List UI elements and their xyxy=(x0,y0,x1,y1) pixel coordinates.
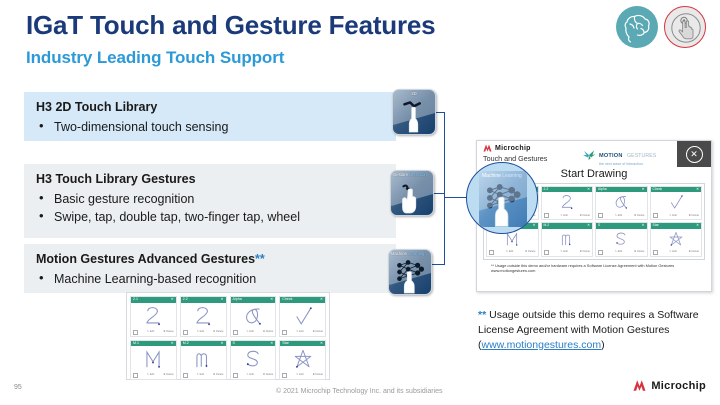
band-title-text: Motion Gestures Advanced Gestures xyxy=(36,252,255,266)
gesture-card-drawing xyxy=(596,192,647,212)
callout-label: Machine Learning xyxy=(482,173,522,179)
gesture-card-footer: ✎ Edit✖ Delete xyxy=(487,249,538,256)
gesture-card-delete-button[interactable]: ✖ Delete xyxy=(163,331,173,334)
gesture-card-label: Alpha xyxy=(233,298,242,302)
gesture-card-checkbox[interactable] xyxy=(653,213,658,218)
band-title-text: H3 Touch Library Gestures xyxy=(36,172,196,186)
gesture-card-footer: ✎ Edit✖ Delete xyxy=(181,372,226,379)
callout-label-hi: Learning xyxy=(502,173,521,179)
page-title: IGaT Touch and Gesture Features xyxy=(26,10,435,41)
gesture-card-drawing xyxy=(231,303,276,329)
gesture-card-checkbox[interactable] xyxy=(233,330,238,335)
gesture-grid-image: 2.1✕✎ Edit✖ Delete2.2✕✎ Edit✖ DeleteAlph… xyxy=(126,292,330,380)
gesture-card-drawing xyxy=(542,192,593,212)
gesture-card[interactable]: S✕✎ Edit✖ Delete xyxy=(595,222,648,256)
gesture-card-checkbox[interactable] xyxy=(653,250,658,255)
microchip-wordmark-footer: Microchip xyxy=(651,380,706,392)
gesture-card-delete-button[interactable]: ✖ Delete xyxy=(689,215,699,218)
gesture-card-delete-button[interactable]: ✖ Delete xyxy=(689,251,699,254)
app-icon-gesture-detection[interactable]: Gesture Detection xyxy=(390,170,434,216)
gesture-card-remove-icon[interactable]: ✕ xyxy=(587,224,590,227)
app-icon-machine-learning[interactable]: Machine Learning xyxy=(388,249,432,295)
microchip-mark-icon xyxy=(631,378,648,393)
gesture-card-checkbox[interactable] xyxy=(133,373,138,378)
gesture-card-footer: ✎ Edit✖ Delete xyxy=(542,249,593,256)
connector-vertical xyxy=(444,112,445,264)
gesture-card-footer: ✎ Edit✖ Delete xyxy=(280,329,325,336)
gesture-card-edit-button[interactable]: ✎ Edit xyxy=(246,374,253,377)
list-item: Swipe, tap, double tap, two-finger tap, … xyxy=(36,208,384,226)
gesture-card-footer: ✎ Edit✖ Delete xyxy=(131,329,176,336)
close-icon: ✕ xyxy=(686,146,703,163)
microchip-logo-footer: Microchip xyxy=(631,378,706,393)
gesture-card-remove-icon[interactable]: ✕ xyxy=(171,298,174,302)
gesture-card-label: 2.1 xyxy=(133,298,138,302)
gesture-card-delete-button[interactable]: ✖ Delete xyxy=(263,374,273,377)
gesture-card-footer: ✎ Edit✖ Delete xyxy=(181,329,226,336)
gesture-card-label: 2.2 xyxy=(544,188,549,191)
gesture-card-label: Check xyxy=(282,298,292,302)
gesture-card-drawing xyxy=(596,229,647,249)
gesture-card-label: M.2 xyxy=(544,224,550,227)
page-number: 95 xyxy=(14,384,22,391)
callout-app-icon: Machine Learning xyxy=(479,171,527,227)
gesture-card-remove-icon[interactable]: ✕ xyxy=(270,342,273,346)
gesture-card-remove-icon[interactable]: ✕ xyxy=(696,224,699,227)
motion-gestures-tagline: the next wave of interaction xyxy=(599,162,656,166)
gesture-card-remove-icon[interactable]: ✕ xyxy=(696,188,699,191)
gesture-card-footer: ✎ Edit✖ Delete xyxy=(651,212,702,219)
hand-tap-glyph xyxy=(391,171,433,215)
gesture-card[interactable]: 2.2✕✎ Edit✖ Delete xyxy=(180,296,227,337)
band-bullets: Basic gesture recognition Swipe, tap, do… xyxy=(36,190,384,226)
microchip-logo-demo: Microchip xyxy=(482,143,531,153)
connector-stub-mid xyxy=(434,193,445,194)
gesture-card-delete-button[interactable]: ✖ Delete xyxy=(213,374,223,377)
gesture-card-delete-button[interactable]: ✖ Delete xyxy=(213,331,223,334)
gesture-card-edit-button[interactable]: ✎ Edit xyxy=(615,215,622,218)
gesture-card-footer: ✎ Edit✖ Delete xyxy=(231,372,276,379)
footnote-text-after: ) xyxy=(601,339,605,351)
gesture-card-drawing xyxy=(280,303,325,329)
app-icon-label: 2D xyxy=(395,91,433,96)
gesture-card-remove-icon[interactable]: ✕ xyxy=(220,298,223,302)
gesture-card-edit-button[interactable]: ✎ Edit xyxy=(246,331,253,334)
gesture-card-footer: ✎ Edit✖ Delete xyxy=(651,249,702,256)
app-icon-label: Machine Learning xyxy=(391,251,429,256)
gesture-card-label: S xyxy=(598,224,600,227)
band-bullets: Two-dimensional touch sensing xyxy=(36,118,384,136)
motion-gestures-name1: MOTION xyxy=(599,153,623,159)
gesture-card-drawing xyxy=(651,192,702,212)
motiongestures-link[interactable]: www.motiongestures.com xyxy=(482,339,602,351)
connector-stub-top xyxy=(436,112,445,113)
gesture-card-checkbox[interactable] xyxy=(183,373,188,378)
gesture-card-delete-button[interactable]: ✖ Delete xyxy=(634,215,644,218)
close-button[interactable]: ✕ xyxy=(677,141,711,167)
hummingbird-icon xyxy=(582,148,597,162)
gesture-card-checkbox[interactable] xyxy=(282,373,287,378)
app-icon-2d[interactable]: 2D xyxy=(392,89,436,135)
finger-swipe-glyph xyxy=(393,90,435,134)
gesture-card-checkbox[interactable] xyxy=(183,330,188,335)
gesture-card-checkbox[interactable] xyxy=(544,250,549,255)
page-subtitle: Industry Leading Touch Support xyxy=(26,48,284,68)
brain-icon xyxy=(616,6,658,48)
gesture-card-drawing xyxy=(131,303,176,329)
app-icon-label-plain: Gesture xyxy=(393,172,409,177)
list-item: Basic gesture recognition xyxy=(36,190,384,208)
list-item: Machine Learning-based recognition xyxy=(36,270,384,288)
gesture-card[interactable]: M.2✕✎ Edit✖ Delete xyxy=(180,340,227,381)
gesture-card-label: Check xyxy=(653,188,663,191)
gesture-card[interactable]: Check✕✎ Edit✖ Delete xyxy=(279,296,326,337)
gesture-card[interactable]: Star✕✎ Edit✖ Delete xyxy=(279,340,326,381)
gesture-card-label: 2.2 xyxy=(183,298,188,302)
microchip-wordmark-demo: Microchip xyxy=(495,145,531,152)
band-title: Motion Gestures Advanced Gestures** xyxy=(36,252,384,268)
connector-stub-bottom xyxy=(432,264,445,265)
gesture-card[interactable]: Alpha✕✎ Edit✖ Delete xyxy=(230,296,277,337)
gesture-card-footer: ✎ Edit✖ Delete xyxy=(596,249,647,256)
gesture-card-edit-button[interactable]: ✎ Edit xyxy=(669,251,676,254)
gesture-card-delete-button[interactable]: ✖ Delete xyxy=(163,374,173,377)
gesture-card-checkbox[interactable] xyxy=(282,330,287,335)
gesture-card-remove-icon[interactable]: ✕ xyxy=(171,342,174,346)
band-title: H3 2D Touch Library xyxy=(36,100,384,116)
gesture-card-remove-icon[interactable]: ✕ xyxy=(320,342,323,346)
band-title-text: H3 2D Touch Library xyxy=(36,100,157,114)
gesture-card[interactable]: M.1✕✎ Edit✖ Delete xyxy=(130,340,177,381)
gesture-card-edit-button[interactable]: ✎ Edit xyxy=(506,251,513,254)
gesture-card[interactable]: Star✕✎ Edit✖ Delete xyxy=(650,222,703,256)
gesture-card[interactable]: S✕✎ Edit✖ Delete xyxy=(230,340,277,381)
neural-network-glyph xyxy=(389,250,431,294)
gesture-card-edit-button[interactable]: ✎ Edit xyxy=(197,331,204,334)
gesture-card-drawing xyxy=(181,346,226,372)
gesture-card-drawing xyxy=(280,346,325,372)
band-title: H3 Touch Library Gestures xyxy=(36,172,384,188)
gesture-card-delete-button[interactable]: ✖ Delete xyxy=(634,251,644,254)
gesture-card-footer: ✎ Edit✖ Delete xyxy=(131,372,176,379)
gesture-card-footer: ✎ Edit✖ Delete xyxy=(231,329,276,336)
gesture-card-remove-icon[interactable]: ✕ xyxy=(220,342,223,346)
slide: IGaT Touch and Gesture Features Industry… xyxy=(0,0,720,405)
license-footnote: ** Usage outside this demo requires a So… xyxy=(478,308,710,353)
gesture-card-checkbox[interactable] xyxy=(598,250,603,255)
gesture-card-delete-button[interactable]: ✖ Delete xyxy=(313,331,323,334)
gesture-card-checkbox[interactable] xyxy=(133,330,138,335)
gesture-card[interactable]: 2.1✕✎ Edit✖ Delete xyxy=(130,296,177,337)
microchip-mark-icon xyxy=(482,143,493,153)
header-icon-group xyxy=(616,6,706,48)
band-bullets: Machine Learning-based recognition xyxy=(36,270,384,288)
gesture-card-edit-button[interactable]: ✎ Edit xyxy=(615,251,622,254)
app-icon-label-hi: Detection xyxy=(409,172,427,177)
gesture-card-remove-icon[interactable]: ✕ xyxy=(320,298,323,302)
gesture-card-drawing xyxy=(651,229,702,249)
gesture-card-checkbox[interactable] xyxy=(489,250,494,255)
feature-band-2d-touch: H3 2D Touch Library Two-dimensional touc… xyxy=(24,92,396,141)
list-item: Two-dimensional touch sensing xyxy=(36,118,384,136)
gesture-card-checkbox[interactable] xyxy=(598,213,603,218)
gesture-card-edit-button[interactable]: ✎ Edit xyxy=(147,331,154,334)
motion-gestures-logo: MOTION GESTURES the next wave of interac… xyxy=(582,144,656,166)
demo-window-subtitle: Touch and Gestures xyxy=(483,154,547,163)
gesture-card-edit-button[interactable]: ✎ Edit xyxy=(197,374,204,377)
app-icon-label-hi: Learning xyxy=(408,251,424,256)
gesture-card-delete-button[interactable]: ✖ Delete xyxy=(580,251,590,254)
touch-icon xyxy=(664,6,706,48)
gesture-card-delete-button[interactable]: ✖ Delete xyxy=(263,331,273,334)
gesture-card[interactable]: Check✕✎ Edit✖ Delete xyxy=(650,186,703,220)
callout-label-plain: Machine xyxy=(482,173,502,179)
gesture-card-drawing xyxy=(181,303,226,329)
gesture-card-delete-button[interactable]: ✖ Delete xyxy=(580,215,590,218)
gesture-card[interactable]: M.2✕✎ Edit✖ Delete xyxy=(541,222,594,256)
gesture-card-label: Star xyxy=(282,342,289,346)
magnifier-callout: Machine Learning xyxy=(466,162,538,234)
gesture-card-edit-button[interactable]: ✎ Edit xyxy=(560,251,567,254)
callout-neural-network-glyph xyxy=(479,171,527,227)
gesture-card-label: M.1 xyxy=(133,342,139,346)
gesture-card-edit-button[interactable]: ✎ Edit xyxy=(669,215,676,218)
gesture-card-label: M.2 xyxy=(183,342,189,346)
gesture-card-remove-icon[interactable]: ✕ xyxy=(642,188,645,191)
feature-band-motion-gestures: Motion Gestures Advanced Gestures** Mach… xyxy=(24,244,396,293)
gesture-card-footer: ✎ Edit✖ Delete xyxy=(596,212,647,219)
gesture-card[interactable]: Alpha✕✎ Edit✖ Delete xyxy=(595,186,648,220)
band-title-stars: ** xyxy=(255,252,265,266)
gesture-card[interactable]: 2.2✕✎ Edit✖ Delete xyxy=(541,186,594,220)
app-icon-label-plain: Machine xyxy=(391,251,408,256)
gesture-card-delete-button[interactable]: ✖ Delete xyxy=(525,251,535,254)
copyright-text: © 2021 Microchip Technology Inc. and its… xyxy=(276,388,443,395)
feature-band-touch-gestures: H3 Touch Library Gestures Basic gesture … xyxy=(24,164,396,238)
gesture-card-checkbox[interactable] xyxy=(544,213,549,218)
gesture-card-edit-button[interactable]: ✎ Edit xyxy=(296,331,303,334)
gesture-card-remove-icon[interactable]: ✕ xyxy=(270,298,273,302)
gesture-card-checkbox[interactable] xyxy=(233,373,238,378)
gesture-card-edit-button[interactable]: ✎ Edit xyxy=(560,215,567,218)
gesture-card-drawing xyxy=(131,346,176,372)
gesture-card-drawing xyxy=(542,229,593,249)
gesture-card-remove-icon[interactable]: ✕ xyxy=(533,224,536,227)
gesture-card-footer: ✎ Edit✖ Delete xyxy=(542,212,593,219)
gesture-card-delete-button[interactable]: ✖ Delete xyxy=(313,374,323,377)
gesture-card-footer: ✎ Edit✖ Delete xyxy=(280,372,325,379)
motion-gestures-name2: GESTURES xyxy=(627,153,656,159)
demo-license-note: ** Usage outside this demo and/or hardwa… xyxy=(491,263,703,274)
gesture-card-edit-button[interactable]: ✎ Edit xyxy=(147,374,154,377)
gesture-card-drawing xyxy=(231,346,276,372)
gesture-card-remove-icon[interactable]: ✕ xyxy=(642,224,645,227)
footnote-stars: ** xyxy=(478,309,486,321)
gesture-card-label: S xyxy=(233,342,235,346)
gesture-card-label: Alpha xyxy=(598,188,607,191)
app-icon-label-plain: 2D xyxy=(411,91,416,96)
gesture-card-label: Star xyxy=(653,224,659,227)
gesture-card-remove-icon[interactable]: ✕ xyxy=(587,188,590,191)
gesture-card-edit-button[interactable]: ✎ Edit xyxy=(296,374,303,377)
app-icon-label: Gesture Detection xyxy=(393,172,431,177)
